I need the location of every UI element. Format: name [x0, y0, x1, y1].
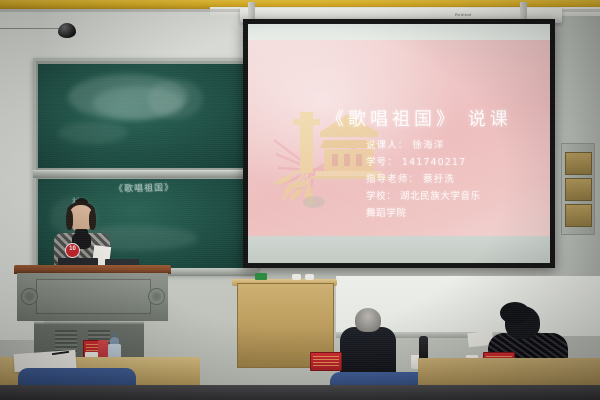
- lectern-speaker-left: [21, 288, 38, 305]
- name-card-center: [310, 352, 342, 371]
- slide-line-school: 学校： 湖北民族大学音乐: [366, 188, 546, 205]
- judge-center-head: [355, 308, 381, 332]
- slide-detail-lines: 说课人： 徐海洋 学号： 141740217 指导老师： 蔡扜洗 学校： 湖北民…: [366, 137, 546, 222]
- blackboard-upper-panel: [38, 64, 253, 168]
- classroom-photo: 《歌唱祖国》 村 Redleaf: [0, 0, 600, 400]
- desk-green-item: [255, 273, 267, 280]
- blackboard-chalk-title: 《歌唱祖国》: [104, 180, 184, 195]
- slide-line-advisor: 指导老师： 蔡扜洗: [366, 171, 546, 188]
- judge-center-body: [340, 327, 396, 372]
- wall-electrical-panel: [561, 143, 595, 235]
- slide-line-student-id: 学号： 141740217: [366, 154, 546, 171]
- projector-brand-label: Redleaf: [455, 12, 472, 17]
- panel-slot-3: [565, 204, 592, 227]
- desk-white-item-1: [292, 274, 301, 280]
- lectern-speaker-right: [148, 288, 165, 305]
- desk-white-item-2: [305, 274, 314, 280]
- screen-bottom-band: [248, 236, 550, 263]
- screen-top-band: [248, 24, 550, 40]
- presentation-slide: 《歌唱祖国》 说课 说课人： 徐海洋 学号： 141740217 指导老师： 蔡…: [248, 40, 550, 236]
- presenter-hair-left: [66, 210, 73, 230]
- presenter-hair-right: [89, 210, 96, 230]
- slide-title: 《歌唱祖国》 说课: [326, 105, 542, 131]
- slide-line-school-cont: 舞蹈学院: [366, 205, 546, 222]
- ceiling-motion-sensor-icon: [58, 23, 76, 38]
- projection-screen-surface: 《歌唱祖国》 说课 说课人： 徐海洋 学号： 141740217 指导老师： 蔡…: [248, 24, 550, 263]
- slide-line-presenter: 说课人： 徐海洋: [366, 137, 546, 154]
- judge-right-hair: [500, 302, 530, 324]
- floor: [0, 385, 600, 400]
- panel-slot-1: [565, 152, 592, 175]
- panel-slot-2: [565, 178, 592, 201]
- presenter-number-badge: 10: [65, 243, 80, 258]
- blackboard-middle-rail: [33, 170, 258, 178]
- lectern-front-panel: [36, 279, 151, 314]
- sensor-wire: [0, 28, 60, 29]
